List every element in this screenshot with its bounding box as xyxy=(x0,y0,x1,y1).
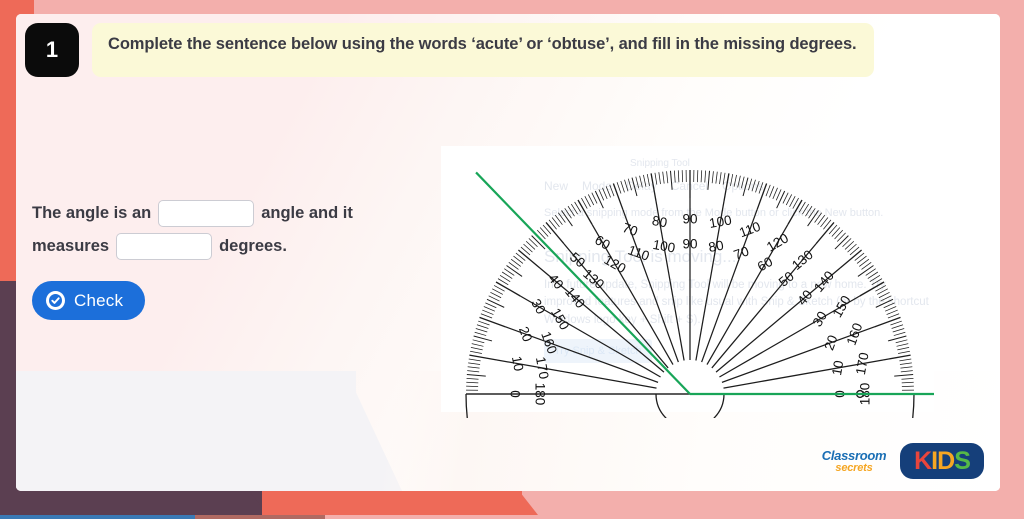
protractor-svg: 0180101702016030150401405013060120701108… xyxy=(424,146,934,418)
branding-logos: Classroom secrets K I D S xyxy=(816,443,984,479)
protractor-outer-label: 120 xyxy=(764,230,791,254)
protractor-outer-label: 130 xyxy=(789,247,816,273)
footer-coral-wedge xyxy=(516,487,538,515)
protractor-outer-label: 110 xyxy=(737,219,762,240)
footer-purple-band xyxy=(0,487,262,515)
answer-area: The angle is an angle and it measures de… xyxy=(32,200,432,320)
question-number-badge: 1 xyxy=(25,23,79,77)
protractor-inner-label: 10 xyxy=(829,359,846,376)
sentence-line-1-suffix: angle and it xyxy=(261,204,353,223)
protractor-inner-label: 40 xyxy=(794,287,815,308)
kids-logo: K I D S xyxy=(900,443,984,479)
protractor-outer-label: 50 xyxy=(567,249,588,270)
protractor-outer-label: 80 xyxy=(651,213,668,230)
footer-blue-line xyxy=(0,515,195,519)
angle-ray xyxy=(476,172,690,394)
kids-logo-k: K xyxy=(914,447,931,476)
protractor-inner-label: 110 xyxy=(626,242,651,263)
sentence-line-2: measures degrees. xyxy=(32,233,432,260)
protractor-inner-label: 80 xyxy=(707,238,724,255)
protractor-outer-label: 30 xyxy=(528,296,549,317)
protractor-outer-label: 150 xyxy=(829,293,853,320)
footer-coral-band xyxy=(262,487,522,515)
protractor-inner-label: 30 xyxy=(810,309,831,330)
protractor-outer-label: 70 xyxy=(621,220,640,239)
sentence-line-1-prefix: The angle is an xyxy=(32,204,151,223)
protractor-inner-label: 160 xyxy=(538,330,560,356)
protractor-inner-label: 70 xyxy=(732,243,751,262)
check-button[interactable]: Check xyxy=(32,281,145,320)
protractor-inner-label: 60 xyxy=(755,254,776,275)
classroom-secrets-logo-line2: secrets xyxy=(835,463,872,474)
protractor-inner-label: 150 xyxy=(548,305,572,332)
footer-blue-line-right xyxy=(195,515,325,519)
answer-input-degrees[interactable] xyxy=(116,233,212,260)
protractor-outer-label: 10 xyxy=(509,355,526,372)
check-button-label: Check xyxy=(74,291,123,311)
protractor-inner-label: 170 xyxy=(533,356,552,381)
protractor-outer-label: 40 xyxy=(545,271,566,292)
sentence-line-2-suffix: degrees. xyxy=(219,237,287,256)
protractor-outer-label: 0 xyxy=(508,390,523,398)
protractor-outer-label: 170 xyxy=(853,351,872,376)
protractor-outer-label: 140 xyxy=(811,268,837,295)
protractor-outer-label: 100 xyxy=(708,212,733,231)
protractor-inner-label: 50 xyxy=(776,269,797,290)
protractor-outer-label: 90 xyxy=(682,212,697,227)
classroom-secrets-logo: Classroom secrets xyxy=(816,446,892,476)
protractor-drawing: 0180101702016030150401405013060120701108… xyxy=(466,170,914,418)
check-circle-icon xyxy=(46,291,65,310)
sentence-line-1: The angle is an angle and it xyxy=(32,200,432,227)
protractor-figure: Snipping Tool New Mode Delay Cancel Opti… xyxy=(424,146,934,418)
protractor-inner-label: 20 xyxy=(821,333,840,352)
protractor-outer-label: 60 xyxy=(592,232,613,253)
answer-input-angle-type[interactable] xyxy=(158,200,254,227)
question-header: 1 Complete the sentence below using the … xyxy=(25,23,874,77)
kids-logo-d: D xyxy=(937,447,954,476)
protractor-inner-label: 180 xyxy=(533,383,548,406)
protractor-inner-label: 100 xyxy=(652,237,677,256)
protractor-inner-label: 120 xyxy=(601,252,628,276)
protractor-inner-label: 90 xyxy=(682,237,697,252)
question-text-highlight: Complete the sentence below using the wo… xyxy=(92,23,874,77)
protractor-outer-label: 20 xyxy=(516,325,535,344)
sentence-line-2-prefix: measures xyxy=(32,237,109,256)
protractor-inner-label: 140 xyxy=(562,284,588,311)
kids-logo-s: S xyxy=(954,447,970,476)
protractor-inner-label: 130 xyxy=(580,266,607,292)
question-instruction-text: Complete the sentence below using the wo… xyxy=(108,33,858,56)
classroom-secrets-logo-line1: Classroom xyxy=(822,449,887,462)
question-card: 1 Complete the sentence below using the … xyxy=(16,14,1000,491)
protractor-outer-label: 160 xyxy=(844,321,866,347)
